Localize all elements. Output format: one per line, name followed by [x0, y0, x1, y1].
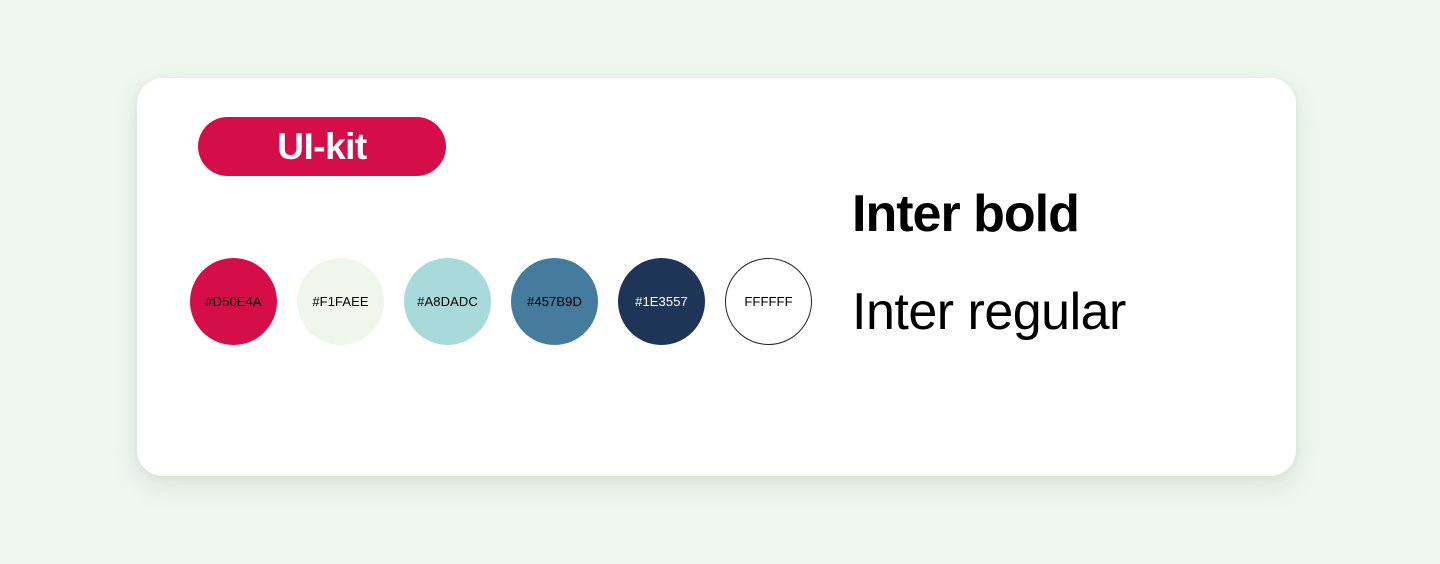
- color-swatch[interactable]: #1E3557: [618, 258, 705, 345]
- ui-kit-pill-label: UI-kit: [277, 128, 367, 165]
- color-swatch[interactable]: #F1FAEE: [297, 258, 384, 345]
- color-swatch[interactable]: #D50E4A: [190, 258, 277, 345]
- color-swatch[interactable]: #A8DADC: [404, 258, 491, 345]
- color-swatch[interactable]: #457B9D: [511, 258, 598, 345]
- color-swatch-label: #D50E4A: [205, 295, 261, 308]
- ui-kit-card: UI-kit #D50E4A #F1FAEE #A8DADC #457B9D #…: [137, 78, 1296, 476]
- color-palette-row: #D50E4A #F1FAEE #A8DADC #457B9D #1E3557 …: [190, 258, 812, 345]
- color-swatch-label: FFFFFF: [744, 295, 792, 308]
- color-swatch-label: #F1FAEE: [312, 295, 368, 308]
- color-swatch[interactable]: FFFFFF: [725, 258, 812, 345]
- typography-specimens: Inter bold Inter regular: [852, 188, 1272, 338]
- color-swatch-label: #A8DADC: [417, 295, 478, 308]
- ui-kit-pill-button[interactable]: UI-kit: [198, 117, 446, 176]
- color-swatch-label: #1E3557: [635, 295, 688, 308]
- typography-bold-specimen: Inter bold: [852, 188, 1272, 240]
- color-swatch-label: #457B9D: [527, 295, 582, 308]
- typography-regular-specimen: Inter regular: [852, 286, 1272, 338]
